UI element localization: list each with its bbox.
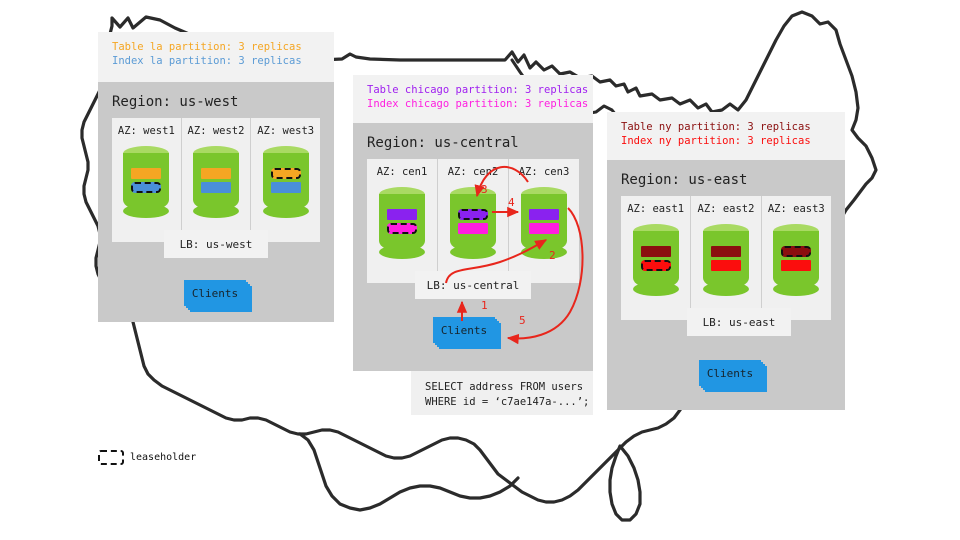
cylinder-bottom xyxy=(450,245,496,259)
replica-bar-index-leaseholder xyxy=(641,260,671,271)
header-us-central: Table chicago partition: 3 replicas Inde… xyxy=(353,75,593,123)
replica-bars-east3 xyxy=(773,246,819,274)
clients-us-central[interactable]: Clients xyxy=(433,317,495,343)
replica-bars-west2 xyxy=(193,168,239,196)
replica-bar-table xyxy=(387,209,417,220)
flow-step-number-4: 4 xyxy=(508,196,515,209)
az-label-east2: AZ: east2 xyxy=(698,203,755,215)
az-west1[interactable]: AZ: west1 xyxy=(112,118,182,242)
region-title-us-east: Region: us-east xyxy=(621,172,747,188)
replica-bars-cen3 xyxy=(521,209,567,237)
az-label-west2: AZ: west2 xyxy=(188,125,245,137)
hdr-us-east-index: Index ny partition: 3 replicas xyxy=(621,134,831,148)
cylinder-bottom xyxy=(521,245,567,259)
replica-bar-index xyxy=(271,182,301,193)
replica-bar-index xyxy=(711,260,741,271)
az-label-east3: AZ: east3 xyxy=(768,203,825,215)
region-us-east[interactable]: Region: us-east AZ: east1 AZ: east2 xyxy=(607,160,845,410)
legend-label: leaseholder xyxy=(130,452,196,463)
az-cen3[interactable]: AZ: cen3 xyxy=(509,159,579,283)
sql-line-2: WHERE id = ‘c7ae147a-...’; xyxy=(425,395,579,410)
az-container-us-west: AZ: west1 AZ: west2 xyxy=(112,118,320,242)
replica-bars-east2 xyxy=(703,246,749,274)
cylinder-bottom xyxy=(703,282,749,296)
region-title-us-central: Region: us-central xyxy=(367,135,519,151)
florida-detail xyxy=(610,446,640,520)
cylinder-bottom xyxy=(633,282,679,296)
clients-us-west[interactable]: Clients xyxy=(184,280,246,306)
cylinder-bottom xyxy=(193,204,239,218)
cylinder-west2[interactable] xyxy=(193,146,239,218)
region-us-west[interactable]: Region: us-west AZ: west1 AZ: west2 xyxy=(98,82,334,322)
az-label-east1: AZ: east1 xyxy=(627,203,684,215)
replica-bar-index xyxy=(529,223,559,234)
replica-bar-index-leaseholder xyxy=(387,223,417,234)
az-west2[interactable]: AZ: west2 xyxy=(182,118,252,242)
replica-bar-index xyxy=(201,182,231,193)
lb-us-west[interactable]: LB: us-west xyxy=(164,230,268,258)
lb-us-central[interactable]: LB: us-central xyxy=(415,271,531,299)
hdr-us-west-index: Index la partition: 3 replicas xyxy=(112,54,320,68)
flow-step-number-5: 5 xyxy=(519,314,526,327)
az-label-cen1: AZ: cen1 xyxy=(377,166,428,178)
az-label-cen3: AZ: cen3 xyxy=(519,166,570,178)
cylinder-bottom xyxy=(773,282,819,296)
replica-bar-table xyxy=(131,168,161,179)
replica-bar-index xyxy=(458,223,488,234)
az-west3[interactable]: AZ: west3 xyxy=(251,118,320,242)
cylinder-bottom xyxy=(379,245,425,259)
replica-bar-table xyxy=(201,168,231,179)
cylinder-west1[interactable] xyxy=(123,146,169,218)
replica-bar-table-leaseholder xyxy=(458,209,488,220)
cylinder-bottom xyxy=(263,204,309,218)
header-us-east: Table ny partition: 3 replicas Index ny … xyxy=(607,112,845,160)
replica-bars-west3 xyxy=(263,168,309,196)
cylinder-bottom xyxy=(123,204,169,218)
az-label-cen2: AZ: cen2 xyxy=(448,166,499,178)
clients-label: Clients xyxy=(433,317,495,343)
cylinder-cen2[interactable] xyxy=(450,187,496,259)
dashed-box-icon xyxy=(98,450,124,465)
replica-bars-cen1 xyxy=(379,209,425,237)
sql-query-box: SELECT address FROM users WHERE id = ‘c7… xyxy=(411,371,593,415)
az-container-us-east: AZ: east1 AZ: east2 xyxy=(621,196,831,320)
replica-bar-table xyxy=(711,246,741,257)
cylinder-east1[interactable] xyxy=(633,224,679,296)
az-east1[interactable]: AZ: east1 xyxy=(621,196,691,320)
replica-bars-cen2 xyxy=(450,209,496,237)
replica-bar-index-leaseholder xyxy=(131,182,161,193)
sql-line-1: SELECT address FROM users xyxy=(425,380,579,395)
legend-leaseholder: leaseholder xyxy=(98,450,196,465)
flow-step-number-3: 3 xyxy=(481,183,488,196)
replica-bar-index xyxy=(781,260,811,271)
flow-step-number-2: 2 xyxy=(549,249,556,262)
az-east3[interactable]: AZ: east3 xyxy=(762,196,831,320)
az-label-west3: AZ: west3 xyxy=(257,125,314,137)
lb-us-east[interactable]: LB: us-east xyxy=(687,308,791,336)
replica-bar-table-leaseholder xyxy=(271,168,301,179)
hdr-us-central-table: Table chicago partition: 3 replicas xyxy=(367,83,579,97)
region-title-us-west: Region: us-west xyxy=(112,94,238,110)
clients-label: Clients xyxy=(184,280,246,306)
hdr-us-east-table: Table ny partition: 3 replicas xyxy=(621,120,831,134)
region-us-central[interactable]: Region: us-central AZ: cen1 AZ: cen2 xyxy=(353,123,593,371)
az-label-west1: AZ: west1 xyxy=(118,125,175,137)
clients-label: Clients xyxy=(699,360,761,386)
flow-step-number-1: 1 xyxy=(481,299,488,312)
gulf-coast-detail xyxy=(300,434,518,510)
cylinder-east2[interactable] xyxy=(703,224,749,296)
cylinder-cen1[interactable] xyxy=(379,187,425,259)
az-cen1[interactable]: AZ: cen1 xyxy=(367,159,438,283)
cylinder-cen3[interactable] xyxy=(521,187,567,259)
clients-us-east[interactable]: Clients xyxy=(699,360,761,386)
replica-bar-table-leaseholder xyxy=(781,246,811,257)
az-cen2[interactable]: AZ: cen2 xyxy=(438,159,509,283)
az-container-us-central: AZ: cen1 AZ: cen2 xyxy=(367,159,579,283)
cylinder-east3[interactable] xyxy=(773,224,819,296)
header-us-west: Table la partition: 3 replicas Index la … xyxy=(98,32,334,82)
replica-bars-east1 xyxy=(633,246,679,274)
cylinder-west3[interactable] xyxy=(263,146,309,218)
hdr-us-west-table: Table la partition: 3 replicas xyxy=(112,40,320,54)
diagram-canvas: Table la partition: 3 replicas Index la … xyxy=(0,0,960,540)
replica-bars-west1 xyxy=(123,168,169,196)
hdr-us-central-index: Index chicago partition: 3 replicas xyxy=(367,97,579,111)
az-east2[interactable]: AZ: east2 xyxy=(691,196,761,320)
replica-bar-table xyxy=(529,209,559,220)
replica-bar-table xyxy=(641,246,671,257)
